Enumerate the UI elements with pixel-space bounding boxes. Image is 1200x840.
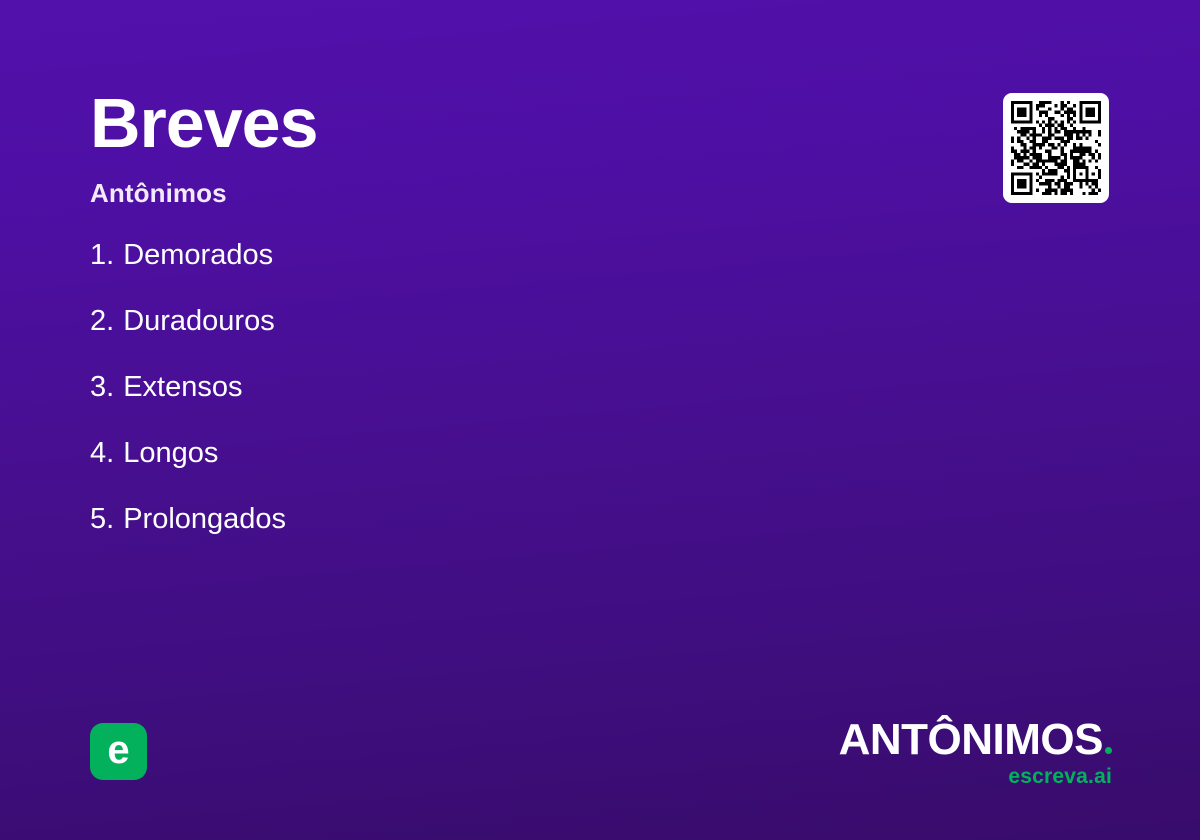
- qr-code-icon: [1011, 101, 1101, 195]
- page-title: Breves: [90, 88, 850, 158]
- list-item: 1.Demorados: [90, 238, 910, 304]
- list-item-label: Demorados: [123, 238, 273, 272]
- list-item: 4.Longos: [90, 436, 910, 502]
- page-subtitle: Antônimos: [90, 180, 850, 206]
- list-item-index: 3.: [90, 370, 114, 404]
- list-item: 5.Prolongados: [90, 502, 910, 568]
- list-item-label: Duradouros: [123, 304, 275, 338]
- wordmark-title: ANTÔNIMOS: [839, 718, 1112, 762]
- list-item: 3.Extensos: [90, 370, 910, 436]
- list-item-index: 4.: [90, 436, 114, 470]
- antonyms-list: 1.Demorados2.Duradouros3.Extensos4.Longo…: [90, 238, 910, 568]
- list-item-label: Extensos: [123, 370, 242, 404]
- list-item-index: 5.: [90, 502, 114, 536]
- wordmark-subtitle: escreva.ai: [839, 766, 1112, 787]
- header-block: Breves Antônimos: [90, 88, 850, 206]
- qr-code-card[interactable]: [1003, 93, 1109, 203]
- list-item-index: 1.: [90, 238, 114, 272]
- brand-badge[interactable]: e: [90, 723, 147, 780]
- list-item-index: 2.: [90, 304, 114, 338]
- list-item-label: Prolongados: [123, 502, 286, 536]
- footer-wordmark: ANTÔNIMOS escreva.ai: [839, 718, 1112, 787]
- wordmark-dot-icon: [1105, 747, 1112, 754]
- brand-badge-letter: e: [107, 730, 129, 770]
- list-item-label: Longos: [123, 436, 218, 470]
- list-item: 2.Duradouros: [90, 304, 910, 370]
- antonyms-card: Breves Antônimos 1.Demorados2.Duradouros…: [0, 0, 1200, 840]
- wordmark-title-text: ANTÔNIMOS: [839, 715, 1103, 764]
